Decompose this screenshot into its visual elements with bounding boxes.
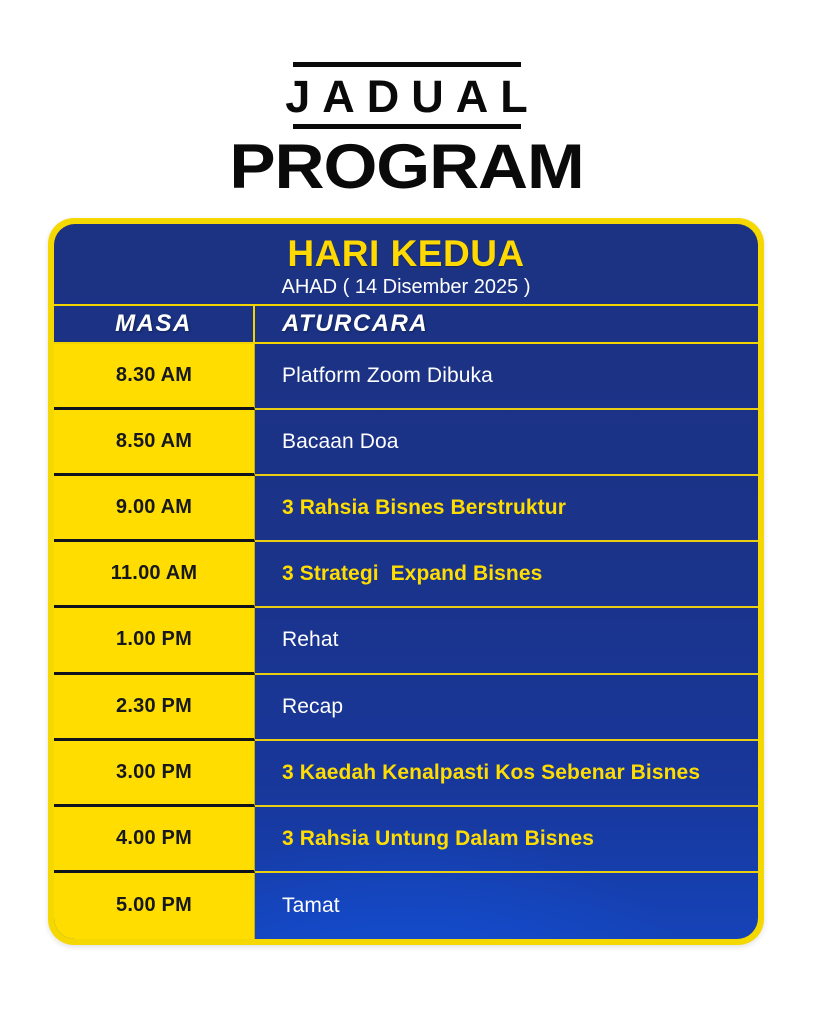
column-header-time: MASA	[54, 306, 255, 342]
cell-program: Recap	[255, 675, 758, 741]
schedule-table: MASA ATURCARA 8.30 AMPlatform Zoom Dibuk…	[54, 304, 758, 939]
table-row: 11.00 AM3 Strategi Expand Bisnes	[54, 542, 758, 608]
program-value: Rehat	[282, 628, 339, 652]
cell-program: 3 Rahsia Bisnes Berstruktur	[255, 476, 758, 542]
time-value: 9.00 AM	[116, 496, 192, 519]
program-value: 3 Kaedah Kenalpasti Kos Sebenar Bisnes	[282, 761, 700, 785]
time-value: 11.00 AM	[111, 562, 197, 585]
title-line-jadual: JADUAL	[0, 73, 813, 120]
cell-program: 3 Strategi Expand Bisnes	[255, 542, 758, 608]
cell-program: Platform Zoom Dibuka	[255, 344, 758, 410]
cell-time: 9.00 AM	[54, 476, 255, 542]
program-value: Bacaan Doa	[282, 430, 399, 454]
table-row: 8.50 AMBacaan Doa	[54, 410, 758, 476]
column-header-time-label: MASA	[115, 310, 192, 338]
table-row: 2.30 PMRecap	[54, 675, 758, 741]
schedule-poster: JADUAL PROGRAM HARI KEDUA AHAD ( 14 Dise…	[0, 0, 813, 1024]
cell-time: 5.00 PM	[54, 873, 255, 939]
poster-title-block: JADUAL PROGRAM	[0, 62, 813, 199]
program-value: Recap	[282, 695, 343, 719]
cell-program: Rehat	[255, 608, 758, 674]
title-rule-bottom	[293, 124, 521, 129]
table-row: 8.30 AMPlatform Zoom Dibuka	[54, 344, 758, 410]
cell-program: Tamat	[255, 873, 758, 939]
cell-time: 2.30 PM	[54, 675, 255, 741]
table-row: 3.00 PM3 Kaedah Kenalpasti Kos Sebenar B…	[54, 741, 758, 807]
column-header-program-label: ATURCARA	[282, 310, 428, 338]
cell-time: 8.50 AM	[54, 410, 255, 476]
card-header: HARI KEDUA AHAD ( 14 Disember 2025 )	[54, 224, 758, 304]
table-body: 8.30 AMPlatform Zoom Dibuka8.50 AMBacaan…	[54, 344, 758, 939]
day-title: HARI KEDUA	[54, 234, 758, 274]
table-header-row: MASA ATURCARA	[54, 304, 758, 344]
column-header-program: ATURCARA	[255, 306, 758, 342]
cell-time: 3.00 PM	[54, 741, 255, 807]
cell-program: Bacaan Doa	[255, 410, 758, 476]
time-value: 8.30 AM	[116, 364, 192, 387]
program-value: Tamat	[282, 894, 340, 918]
table-row: 5.00 PMTamat	[54, 873, 758, 939]
title-rule-top	[293, 62, 521, 67]
table-row: 1.00 PMRehat	[54, 608, 758, 674]
time-value: 5.00 PM	[116, 894, 192, 917]
cell-time: 4.00 PM	[54, 807, 255, 873]
program-value: 3 Strategi Expand Bisnes	[282, 562, 542, 586]
cell-time: 8.30 AM	[54, 344, 255, 410]
cell-program: 3 Rahsia Untung Dalam Bisnes	[255, 807, 758, 873]
cell-time: 11.00 AM	[54, 542, 255, 608]
time-value: 2.30 PM	[116, 695, 192, 718]
time-value: 8.50 AM	[116, 430, 192, 453]
day-date: AHAD ( 14 Disember 2025 )	[54, 275, 758, 299]
program-value: Platform Zoom Dibuka	[282, 364, 493, 388]
cell-time: 1.00 PM	[54, 608, 255, 674]
cell-program: 3 Kaedah Kenalpasti Kos Sebenar Bisnes	[255, 741, 758, 807]
program-value: 3 Rahsia Untung Dalam Bisnes	[282, 827, 594, 851]
table-row: 9.00 AM3 Rahsia Bisnes Berstruktur	[54, 476, 758, 542]
time-value: 4.00 PM	[116, 827, 192, 850]
time-value: 1.00 PM	[116, 628, 192, 651]
table-row: 4.00 PM3 Rahsia Untung Dalam Bisnes	[54, 807, 758, 873]
title-line-program: PROGRAM	[0, 135, 813, 199]
schedule-card-inner: HARI KEDUA AHAD ( 14 Disember 2025 ) MAS…	[54, 224, 758, 939]
schedule-card: HARI KEDUA AHAD ( 14 Disember 2025 ) MAS…	[48, 218, 764, 945]
program-value: 3 Rahsia Bisnes Berstruktur	[282, 496, 566, 520]
time-value: 3.00 PM	[116, 761, 192, 784]
